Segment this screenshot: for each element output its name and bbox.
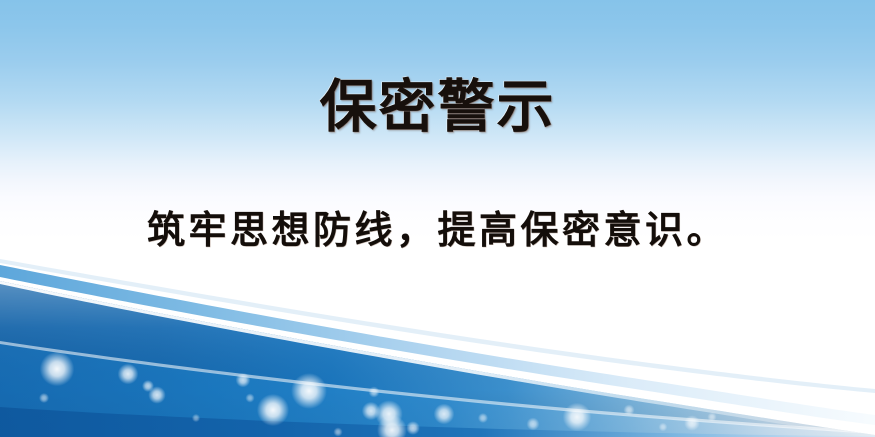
page-subtitle: 筑牢思想防线，提高保密意识。 <box>0 208 875 254</box>
secrecy-warning-poster: 保密警示 筑牢思想防线，提高保密意识。 <box>0 0 875 437</box>
page-title: 保密警示 <box>0 78 875 138</box>
poster-text-content: 保密警示 筑牢思想防线，提高保密意识。 <box>0 0 875 437</box>
